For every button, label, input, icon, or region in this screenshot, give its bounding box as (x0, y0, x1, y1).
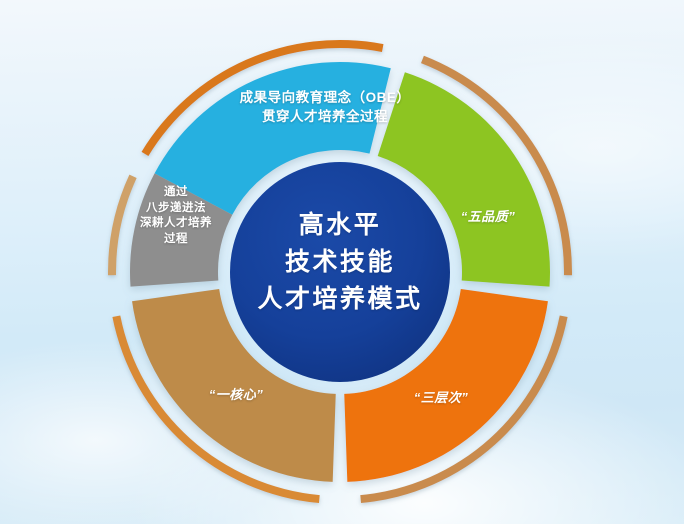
infographic-canvas: 高水平 技术技能 人才培养模式 成果导向教育理念（OBE） 贯穿人才培养全过程 … (0, 0, 684, 524)
donut-wheel-diagram (0, 0, 684, 524)
center-hub-circle (230, 162, 450, 382)
